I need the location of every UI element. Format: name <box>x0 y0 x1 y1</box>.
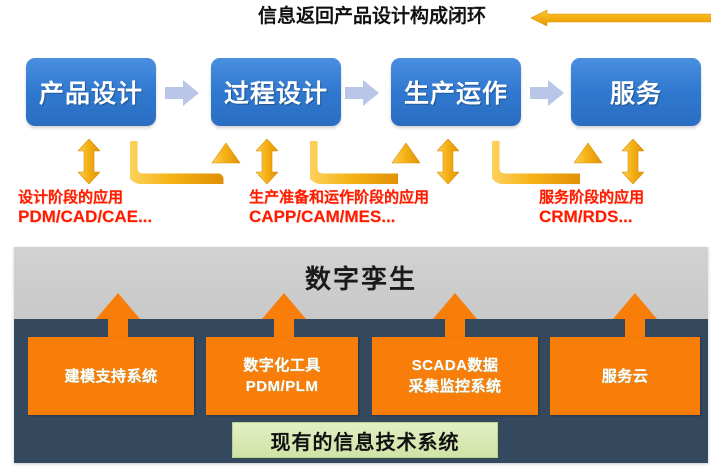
feedback-loop-arrow-icon <box>531 10 711 26</box>
system-box-line1: 服务云 <box>602 368 649 385</box>
system-box-label: 数字化工具 PDM/PLM <box>243 355 321 397</box>
application-label-line2: PDM/CAD/CAE... <box>18 207 152 226</box>
process-stage-product-design[interactable]: 产品设计 <box>26 58 156 126</box>
application-label-design-stage: 设计阶段的应用 PDM/CAD/CAE... <box>18 188 152 226</box>
diagram-canvas: 信息返回产品设计构成闭环 产品设计 过程设计 生产运作 服务 <box>0 0 722 472</box>
application-label-line1: 生产准备和运作阶段的应用 <box>249 189 429 206</box>
system-box-line1: 建模支持系统 <box>64 368 157 385</box>
digital-twin-title: 数字孪生 <box>14 259 708 296</box>
application-label-line1: 服务阶段的应用 <box>539 189 644 206</box>
application-label-line1: 设计阶段的应用 <box>18 189 123 206</box>
process-stage-label: 生产运作 <box>404 74 508 110</box>
chevron-right-icon <box>530 80 564 106</box>
u-turn-arrow-icon <box>310 139 422 184</box>
system-box-label: 建模支持系统 <box>64 366 157 387</box>
process-stage-production-operation[interactable]: 生产运作 <box>391 58 521 126</box>
application-label-line2: CRM/RDS... <box>539 207 644 226</box>
application-label-service-stage: 服务阶段的应用 CRM/RDS... <box>539 188 644 226</box>
application-label-line2: CAPP/CAM/MES... <box>249 207 429 226</box>
double-headed-vertical-arrow-icon <box>622 139 644 184</box>
system-box-digital-tools[interactable]: 数字化工具 PDM/PLM <box>206 337 358 415</box>
system-box-label: SCADA数据 采集监控系统 <box>408 355 501 397</box>
feedback-loop-title: 信息返回产品设计构成闭环 <box>258 3 528 31</box>
system-box-service-cloud[interactable]: 服务云 <box>550 337 700 415</box>
u-turn-arrow-icon <box>492 139 604 184</box>
process-stage-label: 服务 <box>610 74 662 110</box>
application-label-production-stage: 生产准备和运作阶段的应用 CAPP/CAM/MES... <box>249 188 429 226</box>
double-headed-vertical-arrow-icon <box>78 139 100 184</box>
chevron-right-icon <box>345 80 379 106</box>
system-box-label: 服务云 <box>602 366 649 387</box>
system-box-line2: PDM/PLM <box>246 378 319 395</box>
legacy-it-systems-box[interactable]: 现有的信息技术系统 <box>232 422 498 458</box>
process-stage-label: 产品设计 <box>39 74 143 110</box>
u-turn-arrow-icon <box>130 139 242 184</box>
double-headed-vertical-arrow-icon <box>256 139 278 184</box>
system-box-modeling-support[interactable]: 建模支持系统 <box>28 337 194 415</box>
legacy-it-systems-label: 现有的信息技术系统 <box>271 426 460 455</box>
digital-twin-panel: 数字孪生 建模支持系统 <box>14 247 708 463</box>
system-box-line2: 采集监控系统 <box>408 378 501 395</box>
process-stage-service[interactable]: 服务 <box>571 58 701 126</box>
system-box-line1: SCADA数据 <box>412 357 499 374</box>
process-stage-process-design[interactable]: 过程设计 <box>211 58 341 126</box>
double-headed-vertical-arrow-icon <box>437 139 459 184</box>
chevron-right-icon <box>165 80 199 106</box>
process-stage-label: 过程设计 <box>224 74 328 110</box>
system-box-line1: 数字化工具 <box>243 357 321 374</box>
system-box-scada[interactable]: SCADA数据 采集监控系统 <box>372 337 538 415</box>
